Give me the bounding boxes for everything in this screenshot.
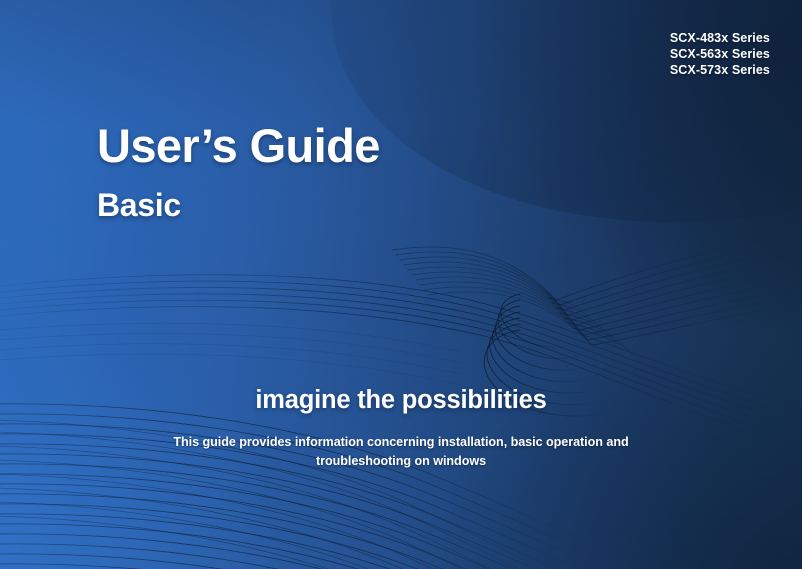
guide-description-line-1: This guide provides information concerni… bbox=[131, 433, 671, 452]
guide-description-line-2: troubleshooting on windows bbox=[131, 452, 671, 471]
model-series-item-2: SCX-563x Series bbox=[670, 46, 770, 62]
decorative-ribbon-graphic bbox=[0, 0, 802, 569]
title-block: User’s Guide Basic bbox=[97, 120, 380, 224]
brand-tagline: imagine the possibilities bbox=[0, 386, 802, 415]
model-series-item-3: SCX-573x Series bbox=[670, 62, 770, 78]
model-series-item-1: SCX-483x Series bbox=[670, 30, 770, 46]
guide-description: This guide provides information concerni… bbox=[131, 433, 671, 471]
model-series-list: SCX-483x Series SCX-563x Series SCX-573x… bbox=[670, 30, 770, 78]
page-subtitle: Basic bbox=[97, 186, 380, 224]
page-title: User’s Guide bbox=[97, 120, 380, 172]
user-guide-cover-page: SCX-483x Series SCX-563x Series SCX-573x… bbox=[0, 0, 802, 569]
